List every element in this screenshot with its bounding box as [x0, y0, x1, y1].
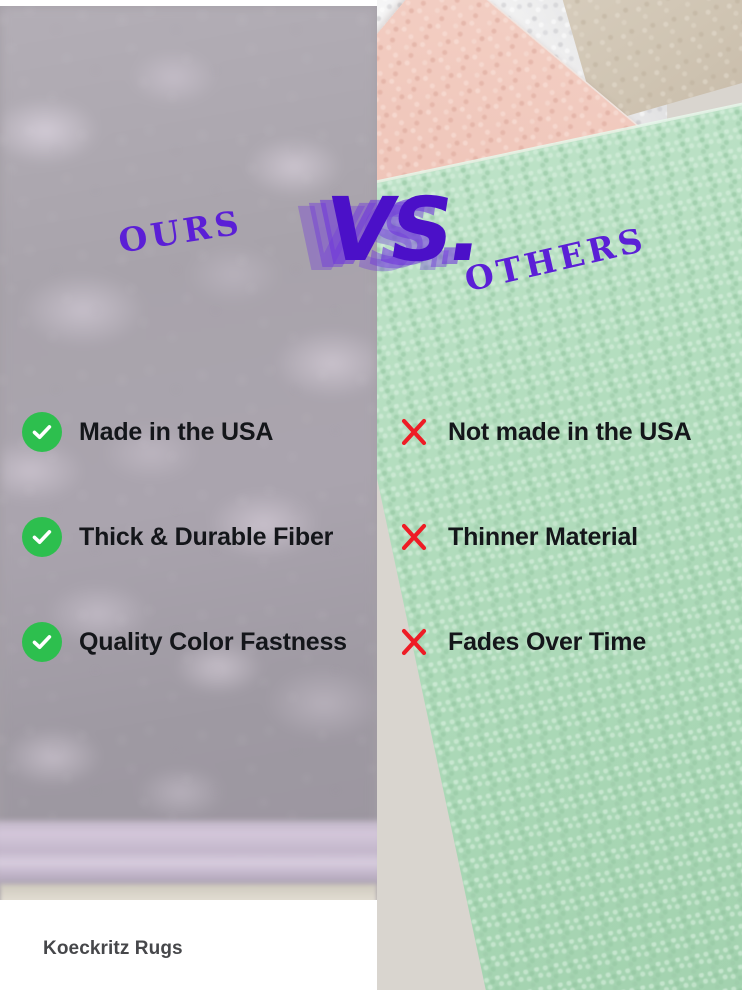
- others-row-3: Fades Over Time: [396, 622, 646, 662]
- others-row-3-label: Fades Over Time: [448, 628, 646, 657]
- others-row-2: Thinner Material: [396, 517, 638, 557]
- comparison-infographic: OURS VS. VS. VS. VS. OTHERS Made in the …: [0, 0, 742, 990]
- x-mark-icon: [396, 412, 432, 452]
- ours-row-1-label: Made in the USA: [79, 418, 273, 447]
- ours-row-1: Made in the USA: [22, 412, 273, 452]
- comparison-rows: Made in the USA Thick & Durable Fiber Qu…: [0, 0, 742, 990]
- others-row-1: Not made in the USA: [396, 412, 691, 452]
- others-row-2-label: Thinner Material: [448, 523, 638, 552]
- check-circle-icon: [22, 412, 62, 452]
- x-mark-icon: [396, 622, 432, 662]
- others-row-1-label: Not made in the USA: [448, 418, 691, 447]
- ours-row-3: Quality Color Fastness: [22, 622, 347, 662]
- ours-row-3-label: Quality Color Fastness: [79, 628, 347, 657]
- brand-name: Koeckritz Rugs: [43, 938, 183, 960]
- check-circle-icon: [22, 517, 62, 557]
- x-mark-icon: [396, 517, 432, 557]
- ours-row-2: Thick & Durable Fiber: [22, 517, 333, 557]
- check-circle-icon: [22, 622, 62, 662]
- ours-row-2-label: Thick & Durable Fiber: [79, 523, 333, 552]
